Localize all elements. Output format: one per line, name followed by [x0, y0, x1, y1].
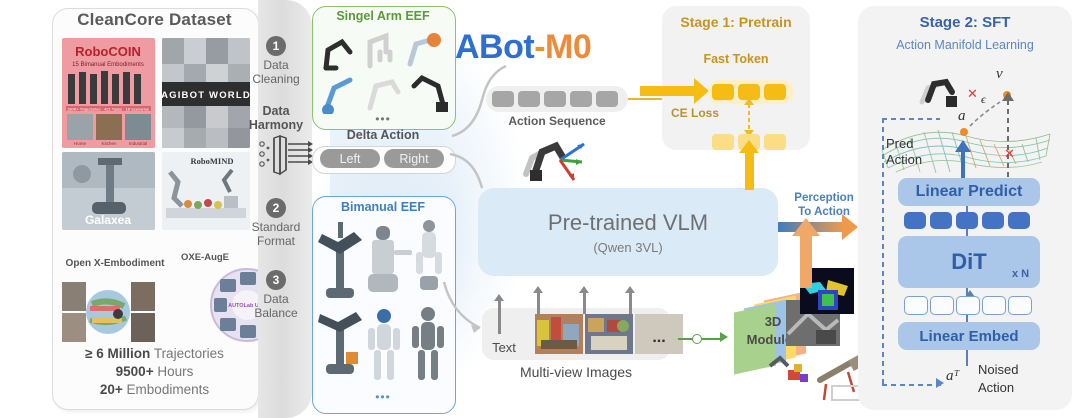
- action-sequence-token: [570, 91, 592, 107]
- step-1-badge: 1: [266, 36, 286, 56]
- step-3-badge: 3: [266, 270, 286, 290]
- step-3-line1: Data: [246, 292, 306, 306]
- ce-loss-up-arrowhead: [744, 98, 754, 105]
- stage1-bottom-arrowhead: [739, 140, 759, 153]
- svg-text:15 Bimanual Embodiments: 15 Bimanual Embodiments: [72, 62, 144, 68]
- stage1-bottom-arrow: [745, 150, 754, 190]
- svg-text:Industrial: Industrial: [129, 141, 147, 146]
- stage1-target-token-box: [764, 134, 786, 150]
- open-x-embodiment-thumbs: [62, 282, 155, 344]
- action-sequence-token: [518, 91, 540, 107]
- stat-trajectories-label: Trajectories: [150, 346, 224, 361]
- step-2-line1: Standard: [246, 220, 306, 234]
- thumbnail-galaxea: Galaxea: [62, 152, 155, 230]
- data-harmony-line2: Harmony: [246, 118, 306, 132]
- single-arm-eef-title: Singel Arm EEF: [312, 9, 454, 23]
- pred-action-line1: Pred: [886, 136, 913, 151]
- stage1-target-token-box: [712, 134, 734, 150]
- model-title-dash: -: [534, 28, 545, 66]
- delta-action-label: Delta Action: [316, 128, 450, 142]
- svg-text:Galaxea: Galaxea: [85, 213, 131, 227]
- eef-to-sequence-curve: [448, 60, 508, 140]
- dit-block: DiT: [898, 236, 1040, 288]
- step-3-label: Data Balance: [246, 292, 306, 320]
- pred-action-arrow: [961, 150, 965, 178]
- text-input-arrow: [498, 300, 501, 334]
- stage1-input-arrow: [640, 86, 696, 96]
- stage2-feedback-arrowhead: [936, 378, 944, 388]
- vlm-title: Pre-trained VLM: [478, 210, 778, 236]
- image-input-arrow: [583, 292, 586, 314]
- multiview-image: [585, 314, 633, 354]
- single-arm-more-indicator: •••: [312, 112, 454, 126]
- image-input-arrowhead: [533, 286, 543, 293]
- perception-upward-arrowhead: [792, 218, 820, 236]
- svg-text:AGIBOT WORLD: AGIBOT WORLD: [162, 90, 250, 101]
- image-input-arrow: [537, 292, 540, 314]
- dit-output-token: [904, 212, 926, 229]
- dit-output-token: [956, 212, 978, 229]
- ce-loss-label: CE Loss: [664, 106, 726, 120]
- embed-token: [982, 296, 1006, 315]
- embed-token: [930, 296, 954, 315]
- step-2-line2: Format: [246, 234, 306, 248]
- svg-text:Home: Home: [74, 141, 87, 146]
- perception-to-action-line1: Perception: [782, 192, 866, 204]
- symbol-a-tau: aᵀ: [946, 368, 959, 385]
- multiview-image-more: ...: [635, 314, 683, 354]
- svg-text:180K+ Trajectories · 421 Tasks: 180K+ Trajectories · 421 Tasks · 18 Scen…: [67, 107, 149, 112]
- dataset-panel-title: CleanCore Dataset: [52, 10, 257, 30]
- velocity-dashed-arrowhead: [1002, 92, 1014, 101]
- svg-text:RoboMIND: RoboMIND: [191, 156, 234, 166]
- stage2-feedback-line: [882, 118, 884, 386]
- step-1-label: Data Cleaning: [246, 58, 306, 86]
- stage1-title: Stage 1: Pretrain: [662, 14, 810, 30]
- cross-out-icon: ✕: [1004, 146, 1015, 162]
- symbol-a: a: [958, 108, 966, 125]
- step-2-badge: 2: [266, 198, 286, 218]
- bimanual-eef-title: Bimanual EEF: [312, 200, 454, 214]
- stage2-feedback-top: [882, 118, 940, 120]
- embed-token: [904, 296, 928, 315]
- svg-text:Kitchen: Kitchen: [101, 141, 117, 146]
- thumbnail-robomind: RoboMIND: [162, 152, 250, 230]
- dit-output-token: [930, 212, 952, 229]
- stage1-input-arrowhead: [694, 78, 709, 104]
- stage2-subtitle: Action Manifold Learning: [858, 38, 1072, 52]
- stat-trajectories: ≥ 6 Million Trajectories: [52, 346, 257, 361]
- oxe-auge-label: OXE-AugE: [155, 252, 255, 263]
- dit-output-token: [1008, 212, 1030, 229]
- noised-action-line2: Action: [978, 380, 1014, 395]
- stat-embodiments-value: 20+: [100, 382, 123, 397]
- delta-to-vlm-curve: [448, 140, 496, 200]
- symbol-v: v: [996, 66, 1003, 83]
- fast-token-box: [712, 84, 734, 100]
- dit-repeat-label: x N: [1012, 268, 1029, 280]
- ce-loss-link: [748, 104, 750, 130]
- step-1-line1: Data: [246, 58, 306, 72]
- stage2-title: Stage 2: SFT: [858, 14, 1072, 31]
- model-title-m0: M0: [545, 28, 591, 66]
- funnel-icon: [258, 134, 314, 176]
- action-sequence-token: [544, 91, 566, 107]
- modules-connector-node: [692, 334, 702, 344]
- stat-hours: 9500+ Hours: [52, 364, 257, 379]
- modules-connector-arrow: [720, 332, 728, 342]
- stat-trajectories-value: ≥ 6 Million: [85, 346, 150, 361]
- perception-to-action-arrowhead: [842, 214, 858, 240]
- thumbnail-agibot-world: AGIBOT WORLD: [162, 38, 250, 148]
- image-input-arrowhead: [625, 286, 635, 293]
- vlm-subtitle: (Qwen 3VL): [478, 240, 778, 255]
- text-input-label: Text: [484, 340, 524, 355]
- velocity-dashed-arrow: [1007, 100, 1009, 178]
- epsilon-dashed-path: [968, 98, 1002, 128]
- stage2-robot-arm-icon: [918, 74, 962, 110]
- data-harmony-line1: Data: [246, 104, 306, 118]
- step-1-line2: Cleaning: [246, 72, 306, 86]
- predicted-action-point: [960, 128, 968, 136]
- delta-action-left-pill[interactable]: Left: [320, 149, 380, 168]
- embed-token: [1008, 296, 1032, 315]
- multiview-images-label: Multi-view Images: [478, 364, 674, 380]
- svg-text:RoboCOIN: RoboCOIN: [75, 44, 141, 59]
- fast-token-box: [764, 84, 786, 100]
- stat-hours-label: Hours: [154, 364, 194, 379]
- data-harmony-label: Data Harmony: [246, 104, 306, 132]
- stat-hours-value: 9500+: [116, 364, 154, 379]
- pred-action-line2: Action: [886, 152, 922, 167]
- multiview-image: [535, 314, 583, 354]
- thumbnail-robocoin: RoboCOIN 15 Bimanual Embodiments 180K+ T…: [62, 38, 155, 148]
- action-sequence-token: [596, 91, 618, 107]
- delta-action-right-pill[interactable]: Right: [384, 149, 444, 168]
- bimanual-more-indicator: •••: [312, 390, 454, 404]
- dit-output-token: [982, 212, 1004, 229]
- svg-text:...: ...: [652, 329, 665, 346]
- lower-left-curve: [440, 280, 496, 340]
- stage2-feedback-bottom: [882, 384, 944, 386]
- image-input-arrowhead: [579, 286, 589, 293]
- noised-action-line1: Noised: [978, 362, 1018, 377]
- stat-embodiments: 20+ Embodiments: [52, 382, 257, 397]
- step-3-line2: Balance: [246, 306, 306, 320]
- linear-embed-block: Linear Embed: [898, 322, 1040, 350]
- stat-embodiments-label: Embodiments: [123, 382, 209, 397]
- fast-token-label: Fast Token: [662, 52, 810, 66]
- image-input-arrow: [629, 292, 632, 314]
- perception-upward-arrow: [800, 232, 812, 288]
- linear-predict-block: Linear Predict: [898, 178, 1040, 206]
- step-2-label: Standard Format: [246, 220, 306, 248]
- single-arm-robot-images: [318, 26, 448, 114]
- pred-action-arrowhead: [955, 140, 971, 152]
- embed-token: [956, 296, 980, 315]
- robot-arm-axes-icon: [520, 130, 592, 182]
- bimanual-robot-images: [318, 218, 448, 388]
